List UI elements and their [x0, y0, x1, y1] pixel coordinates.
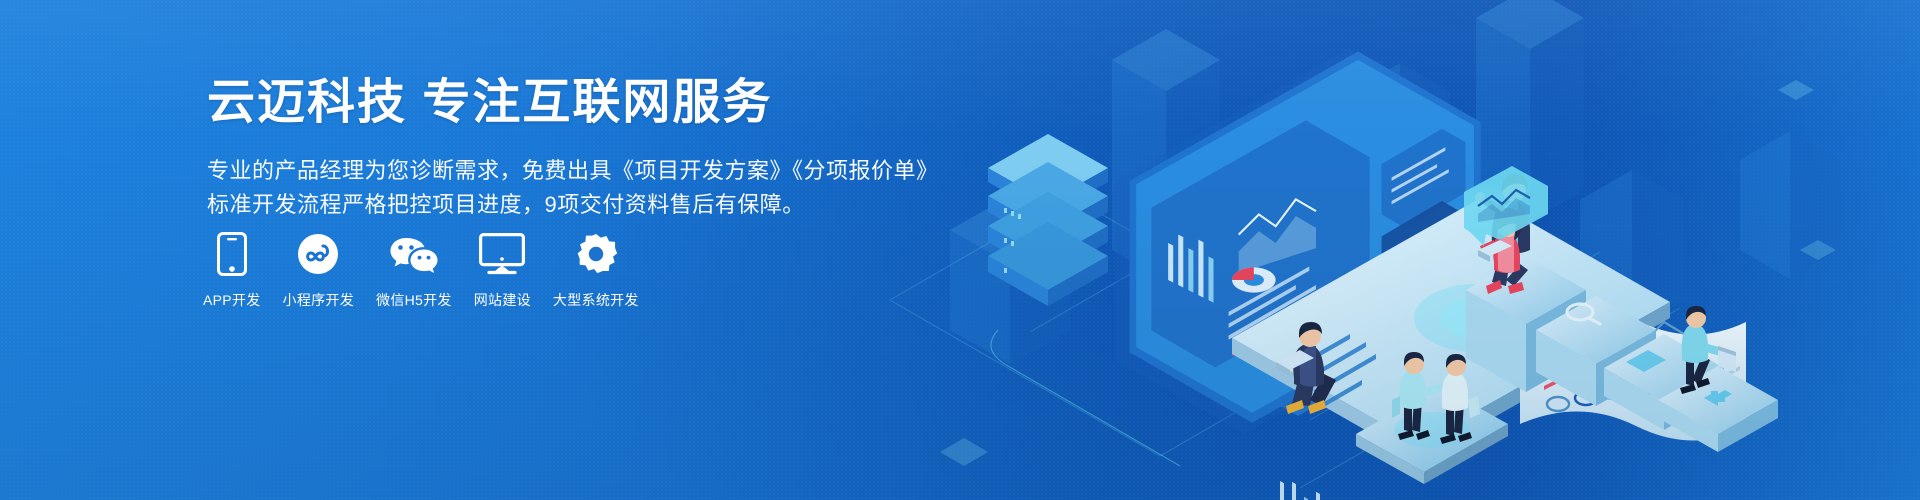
service-label: 小程序开发 — [283, 290, 355, 310]
service-item-app[interactable]: APP开发 — [203, 232, 261, 310]
promo-banner: 云迈科技 专注互联网服务 专业的产品经理为您诊断需求，免费出具《项目开发方案》《… — [0, 0, 1920, 500]
mobile-phone-icon — [217, 232, 247, 276]
subtitle-line-2: 标准开发流程严格把控项目进度，9项交付资料售后有保障。 — [207, 188, 907, 222]
service-label: 大型系统开发 — [553, 290, 639, 310]
banner-subtitle: 专业的产品经理为您诊断需求，免费出具《项目开发方案》《分项报价单》 标准开发流程… — [207, 154, 907, 222]
wechat-icon — [389, 232, 439, 276]
monitor-icon — [479, 232, 525, 276]
banner-copy: 云迈科技 专注互联网服务 专业的产品经理为您诊断需求，免费出具《项目开发方案》《… — [207, 74, 907, 222]
service-item-website[interactable]: 网站建设 — [474, 232, 531, 310]
service-item-wechat[interactable]: 微信H5开发 — [376, 232, 452, 310]
service-label: 微信H5开发 — [376, 290, 452, 310]
service-label: 网站建设 — [474, 290, 531, 310]
mini-program-icon — [297, 232, 339, 276]
service-label: APP开发 — [203, 290, 261, 310]
service-item-system[interactable]: 大型系统开发 — [553, 232, 639, 310]
service-item-miniprogram[interactable]: 小程序开发 — [283, 232, 355, 310]
subtitle-line-1: 专业的产品经理为您诊断需求，免费出具《项目开发方案》《分项报价单》 — [207, 154, 907, 188]
page-title: 云迈科技 专注互联网服务 — [207, 74, 907, 132]
isometric-tech-illustration — [880, 0, 1920, 500]
server-stack — [988, 134, 1108, 306]
gear-icon — [574, 232, 618, 276]
service-list: APP开发 小程序开发 — [203, 232, 639, 310]
